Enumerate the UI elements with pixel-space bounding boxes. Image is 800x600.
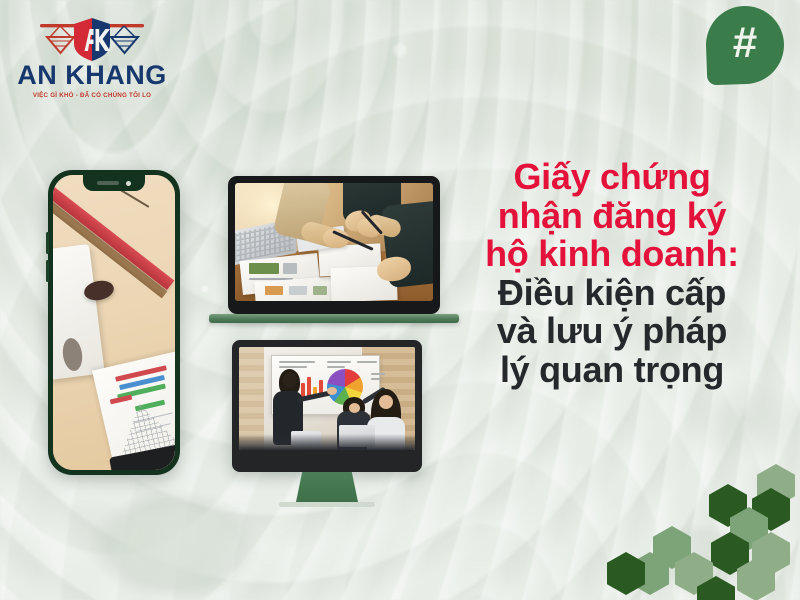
monitor-foot	[279, 502, 375, 507]
phone-notch	[83, 175, 145, 191]
phone-camera-icon	[126, 181, 131, 186]
headline-line-1: Giấy chứng	[442, 158, 782, 197]
monitor-body	[232, 340, 422, 472]
headline-block: Giấy chứng nhận đăng ký hộ kinh doanh: Đ…	[442, 158, 782, 389]
laptop-hinge-notch	[313, 301, 355, 305]
hexagon-decoration	[615, 480, 800, 600]
brand-name: AN KHANG	[12, 62, 172, 89]
phone-volume-up-button	[46, 232, 49, 254]
device-monitor	[232, 340, 422, 507]
brand-tagline: VIỆC GÌ KHÓ - ĐÃ CÓ CHÚNG TÔI LO	[12, 92, 172, 99]
hashtag-icon: #	[706, 21, 784, 65]
poster-canvas: AN KHANG VIỆC GÌ KHÓ - ĐÃ CÓ CHÚNG TÔI L…	[0, 0, 800, 600]
hashtag-badge[interactable]: #	[706, 6, 784, 84]
phone-volume-down-button	[46, 260, 49, 282]
monitor-stand	[296, 472, 358, 502]
laptop-screen	[235, 183, 433, 301]
device-smartphone	[48, 170, 180, 475]
phone-screen	[53, 175, 175, 470]
monitor-photo-presentation-scene	[239, 347, 415, 450]
headline-line-3: hộ kinh doanh:	[442, 235, 782, 274]
phone-speaker-icon	[97, 181, 119, 185]
scales-of-justice-icon	[26, 8, 158, 66]
headline-line-5: và lưu ý pháp	[442, 312, 782, 351]
phone-photo-desk-scene	[53, 175, 175, 470]
laptop-base	[209, 314, 459, 323]
device-laptop	[228, 176, 440, 323]
headline-line-4: Điều kiện cấp	[442, 274, 782, 313]
laptop-body	[228, 176, 440, 314]
headline-line-6: lý quan trọng	[442, 351, 782, 390]
brand-logo[interactable]: AN KHANG VIỆC GÌ KHÓ - ĐÃ CÓ CHÚNG TÔI L…	[12, 8, 172, 99]
headline-line-2: nhận đăng ký	[442, 197, 782, 236]
laptop-photo-meeting-scene	[235, 183, 433, 301]
monitor-screen	[239, 347, 415, 450]
